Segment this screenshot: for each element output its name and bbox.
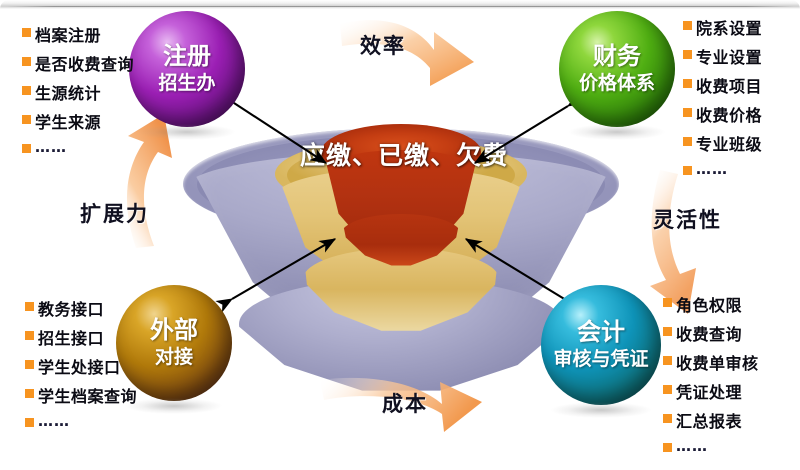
bullet-square-icon: [663, 327, 672, 336]
list-item[interactable]: 收费查询: [663, 321, 759, 345]
band-label-cost: 成本: [382, 388, 428, 418]
bullet-square-icon: [25, 418, 34, 427]
bullet-square-icon: [663, 443, 672, 452]
list-item[interactable]: 收费单审核: [663, 350, 759, 374]
bullet-square-icon: [683, 166, 692, 175]
list-item[interactable]: 角色权限: [663, 292, 759, 316]
node-subtitle-external: 对接: [155, 347, 193, 368]
list-item-label: 招生接口: [38, 325, 104, 349]
list-item-label: ……: [35, 138, 67, 156]
feature-list-finance: 院系设置 专业设置 收费项目 收费价格 专业班级 ……: [683, 15, 762, 183]
list-item[interactable]: 院系设置: [683, 15, 762, 39]
funnel-center-label: 应缴、已缴、欠费: [288, 136, 520, 172]
bullet-square-icon: [22, 86, 31, 95]
list-item-label: 院系设置: [696, 15, 762, 39]
node-title-external: 外部: [150, 317, 198, 344]
bullet-square-icon: [22, 115, 31, 124]
list-item[interactable]: ……: [683, 160, 762, 178]
list-item[interactable]: 专业班级: [683, 131, 762, 155]
node-subtitle-accounting: 审核与凭证: [553, 349, 648, 370]
bullet-square-icon: [663, 298, 672, 307]
list-item[interactable]: 招生接口: [25, 325, 137, 349]
node-title-accounting: 会计: [577, 319, 625, 346]
list-item[interactable]: ……: [25, 412, 137, 430]
list-item[interactable]: 凭证处理: [663, 379, 759, 403]
bullet-square-icon: [25, 360, 34, 369]
node-subtitle-register: 招生办: [158, 73, 215, 94]
bullet-square-icon: [683, 79, 692, 88]
list-item-label: 档案注册: [35, 22, 101, 46]
bullet-square-icon: [683, 50, 692, 59]
list-item[interactable]: 是否收费查询: [22, 51, 134, 75]
list-item[interactable]: 汇总报表: [663, 408, 759, 432]
list-item[interactable]: 收费价格: [683, 102, 762, 126]
list-item[interactable]: 教务接口: [25, 296, 137, 320]
bullet-square-icon: [22, 57, 31, 66]
node-sphere-register[interactable]: 注册 招生办: [129, 11, 245, 127]
node-subtitle-finance: 价格体系: [579, 73, 655, 94]
feature-list-register: 档案注册 是否收费查询 生源统计 学生来源 ……: [22, 22, 134, 161]
list-item-label: ……: [676, 437, 708, 455]
bullet-square-icon: [25, 302, 34, 311]
bullet-square-icon: [663, 385, 672, 394]
list-item-label: 学生处接口: [38, 354, 121, 378]
list-item-label: 角色权限: [676, 292, 742, 316]
list-item[interactable]: 档案注册: [22, 22, 134, 46]
slide-frame-edge: [0, 0, 800, 9]
list-item[interactable]: 收费项目: [683, 73, 762, 97]
band-label-flexibility: 灵活性: [653, 204, 722, 234]
list-item-label: 专业设置: [696, 44, 762, 68]
list-item[interactable]: 专业设置: [683, 44, 762, 68]
list-item-label: 生源统计: [35, 80, 101, 104]
band-label-efficiency: 效率: [360, 30, 406, 60]
list-item-label: ……: [696, 160, 728, 178]
list-item[interactable]: ……: [663, 437, 759, 455]
band-label-extensibility: 扩展力: [80, 198, 149, 228]
list-item[interactable]: 学生处接口: [25, 354, 137, 378]
bullet-square-icon: [25, 331, 34, 340]
list-item-label: 学生档案查询: [38, 383, 137, 407]
bullet-square-icon: [683, 108, 692, 117]
list-item-label: 收费项目: [696, 73, 762, 97]
bullet-square-icon: [22, 144, 31, 153]
list-item[interactable]: 生源统计: [22, 80, 134, 104]
list-item-label: 凭证处理: [676, 379, 742, 403]
feature-list-external: 教务接口 招生接口 学生处接口 学生档案查询 ……: [25, 296, 137, 435]
bullet-square-icon: [683, 21, 692, 30]
band-arrow-efficiency: [338, 10, 478, 88]
list-item[interactable]: ……: [22, 138, 134, 156]
bullet-square-icon: [22, 28, 31, 37]
node-title-register: 注册: [163, 43, 211, 70]
list-item-label: 汇总报表: [676, 408, 742, 432]
bullet-square-icon: [25, 389, 34, 398]
list-item[interactable]: 学生来源: [22, 109, 134, 133]
feature-list-accounting: 角色权限 收费查询 收费单审核 凭证处理 汇总报表 ……: [663, 292, 759, 460]
node-title-finance: 财务: [593, 43, 641, 70]
diagram-canvas: 应缴、已缴、欠费 效率: [0, 0, 800, 470]
list-item-label: 学生来源: [35, 109, 101, 133]
node-sphere-finance[interactable]: 财务 价格体系: [559, 11, 675, 127]
bullet-square-icon: [663, 356, 672, 365]
list-item[interactable]: 学生档案查询: [25, 383, 137, 407]
list-item-label: 专业班级: [696, 131, 762, 155]
list-item-label: 收费价格: [696, 102, 762, 126]
list-item-label: 收费查询: [676, 321, 742, 345]
list-item-label: ……: [38, 412, 70, 430]
list-item-label: 收费单审核: [676, 350, 759, 374]
list-item-label: 教务接口: [38, 296, 104, 320]
bullet-square-icon: [683, 137, 692, 146]
list-item-label: 是否收费查询: [35, 51, 134, 75]
node-sphere-accounting[interactable]: 会计 审核与凭证: [541, 285, 661, 405]
bullet-square-icon: [663, 414, 672, 423]
